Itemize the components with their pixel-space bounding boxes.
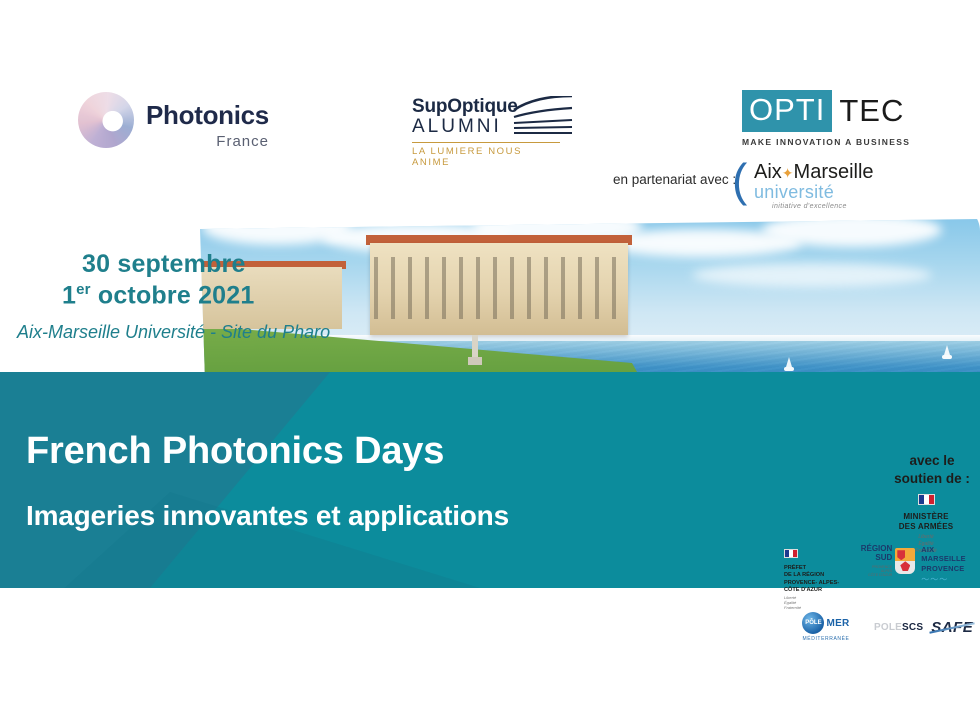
devise-fraternite: Fraternité <box>784 605 849 610</box>
event-date-line-2: 1er octobre 2021 <box>62 281 255 310</box>
french-flag-icon <box>918 494 935 505</box>
cloud-shape <box>762 213 942 247</box>
distant-boat <box>784 367 794 371</box>
amp-line3: PROVENCE <box>921 564 980 573</box>
supoptique-alumni-logo[interactable]: SupOptique ALUMNI LA LUMIERE NOUS ANIME <box>412 96 572 158</box>
pole-mer-mediterranee-logo[interactable]: PÔLE MER MÉDITERRANÉE <box>786 612 866 642</box>
support-label-line1: avec le <box>884 452 980 470</box>
safe-name: SAFE <box>931 619 973 636</box>
amu-line1: Aix✦Marseille <box>754 161 874 184</box>
paren-icon: ( <box>732 158 747 202</box>
pole-mer-word1: PÔLE <box>805 620 821 626</box>
aix-marseille-universite-logo[interactable]: ( Aix✦Marseille université initiative d'… <box>732 158 882 210</box>
region-sud-line2: SUD <box>855 554 893 563</box>
amp-line1: AIX <box>921 545 980 554</box>
ministere-line2: DES ARMÉES <box>874 522 978 532</box>
region-sud-sub3: CÔTE D'AZUR <box>855 573 893 577</box>
optitec-opti: OPTI <box>749 92 825 127</box>
support-label: avec le soutien de : <box>884 452 980 488</box>
pole-mer-sub: MÉDITERRANÉE <box>786 636 866 642</box>
sponsor-row-institutions: PRÉFET DE LA RÉGION PROVENCE- ALPES- CÔT… <box>784 545 980 611</box>
statue <box>472 335 478 361</box>
prefet-line2: DE LA RÉGION <box>784 572 849 579</box>
pole-mer-word2: MER <box>826 618 849 629</box>
pole-scs-pole: POLE <box>874 622 902 633</box>
pole-scs-logo[interactable]: POLESCS <box>874 622 923 633</box>
amu-aix: Aix <box>754 161 782 183</box>
event-date-line-1: 30 septembre <box>82 250 246 279</box>
sail-icon <box>944 345 950 355</box>
page-subtitle: Imageries innovantes et applications <box>26 500 509 532</box>
photonics-france-name: Photonics <box>146 100 269 131</box>
amu-line2: université <box>754 182 834 203</box>
safe-logo[interactable]: SAFE <box>931 619 973 636</box>
prefet-line4: CÔTE D'AZUR <box>784 587 849 594</box>
amu-marseille: Marseille <box>794 161 874 183</box>
pole-scs-scs: SCS <box>902 622 923 633</box>
optitec-tagline: MAKE INNOVATION A BUSINESS <box>742 137 910 147</box>
aix-marseille-provence-logo[interactable]: AIX MARSEILLE PROVENCE 〜〜〜 <box>921 545 980 585</box>
optitec-tec: TEC <box>839 93 904 129</box>
optitec-blue-block: OPTI <box>742 90 832 132</box>
prefet-line3: PROVENCE- ALPES- <box>784 580 849 587</box>
sphere-gradient-icon <box>78 92 134 148</box>
devise-liberte: Liberté <box>874 534 978 541</box>
ministere-line1: MINISTÈRE <box>874 512 978 522</box>
date-day: 1 <box>62 281 76 309</box>
french-flag-icon <box>784 549 798 558</box>
poster-stage: French Photonics Days Imageries innovant… <box>0 0 980 693</box>
partner-label: en partenariat avec : <box>613 172 736 187</box>
optical-lines-icon <box>512 96 574 136</box>
support-label-line2: soutien de : <box>884 470 980 488</box>
photonics-france-wordmark: Photonics France <box>146 100 269 150</box>
distant-boat <box>942 355 952 359</box>
optitec-logo[interactable]: OPTI TEC MAKE INNOVATION A BUSINESS <box>742 90 910 147</box>
sail-icon <box>786 357 792 367</box>
provence-shield-icon <box>895 548 915 574</box>
date-month-year: octobre 2021 <box>91 281 255 309</box>
photonics-france-logo[interactable] <box>78 92 140 154</box>
date-ordinal: er <box>76 281 91 298</box>
supoptique-tagline: LA LUMIERE NOUS ANIME <box>412 142 560 168</box>
palace-windows <box>374 257 624 319</box>
region-sud-logo[interactable]: RÉGION SUD PROVENCE ALPES CÔTE D'AZUR <box>855 545 916 578</box>
amu-line3: initiative d'excellence <box>772 203 847 210</box>
event-venue: Aix-Marseille Université - Site du Pharo <box>17 322 330 343</box>
blue-circle-icon: PÔLE <box>802 612 824 634</box>
prefet-region-paca-logo[interactable]: PRÉFET DE LA RÉGION PROVENCE- ALPES- CÔT… <box>784 545 849 611</box>
pole-mer-badge: PÔLE MER <box>786 612 866 634</box>
waves-icon: 〜〜〜 <box>921 574 980 585</box>
photonics-france-sub: France <box>146 133 269 150</box>
sponsor-row-clusters: PÔLE MER MÉDITERRANÉE POLESCS SAFE <box>786 612 980 642</box>
cloud-shape <box>692 263 932 287</box>
star-icon: ✦ <box>782 165 794 181</box>
page-title: French Photonics Days <box>26 430 444 473</box>
amp-line2: MARSEILLE <box>921 554 980 563</box>
optitec-wordmark: OPTI TEC <box>742 90 910 132</box>
